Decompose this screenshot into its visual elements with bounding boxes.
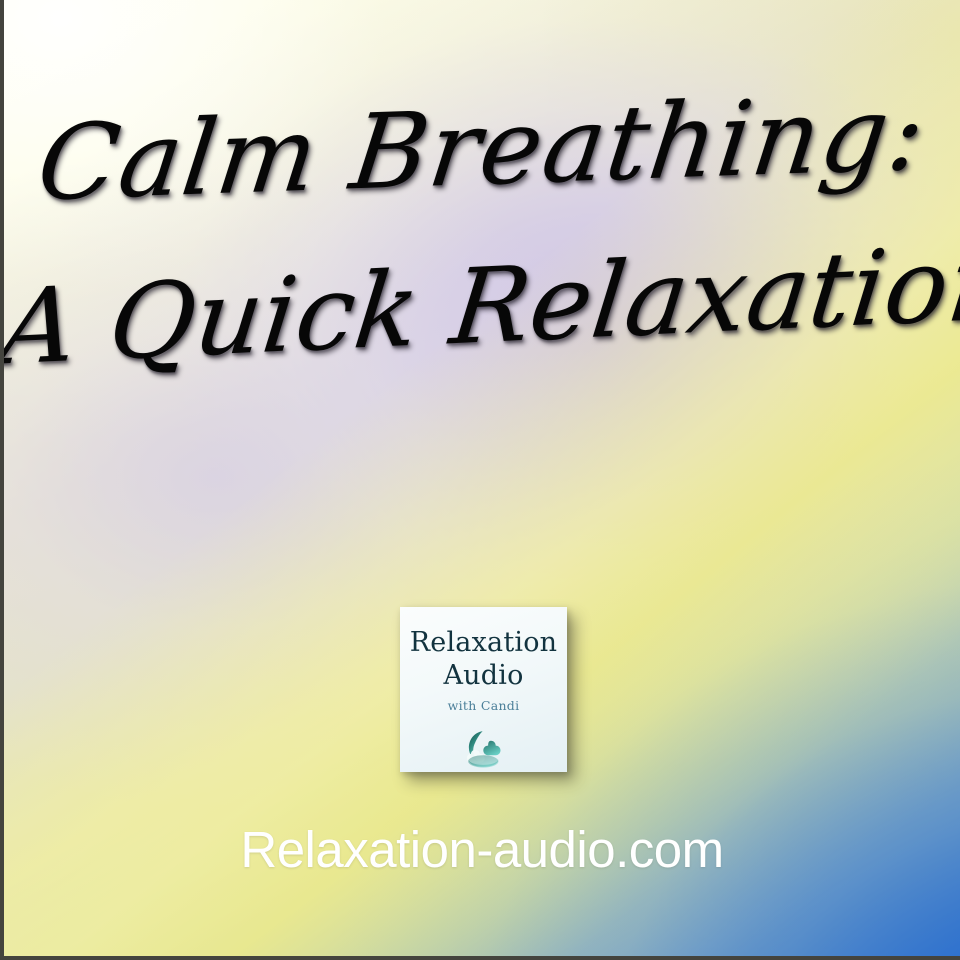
logo-subtitle: with Candi <box>448 698 520 713</box>
logo-title-line-2: Audio <box>443 662 523 689</box>
website-url[interactable]: Relaxation-audio.com <box>4 820 960 879</box>
headline-line-2: A Quick Relaxation Break <box>0 232 960 379</box>
poster-canvas: Calm Breathing: A Quick Relaxation Break… <box>0 0 960 960</box>
moon-cloud-icon <box>462 727 506 771</box>
headline: Calm Breathing: A Quick Relaxation Break <box>4 96 960 358</box>
logo-title-line-1: Relaxation <box>410 629 558 656</box>
headline-line-1: Calm Breathing: <box>0 79 960 216</box>
podcast-logo-card[interactable]: Relaxation Audio with Candi <box>400 607 567 772</box>
